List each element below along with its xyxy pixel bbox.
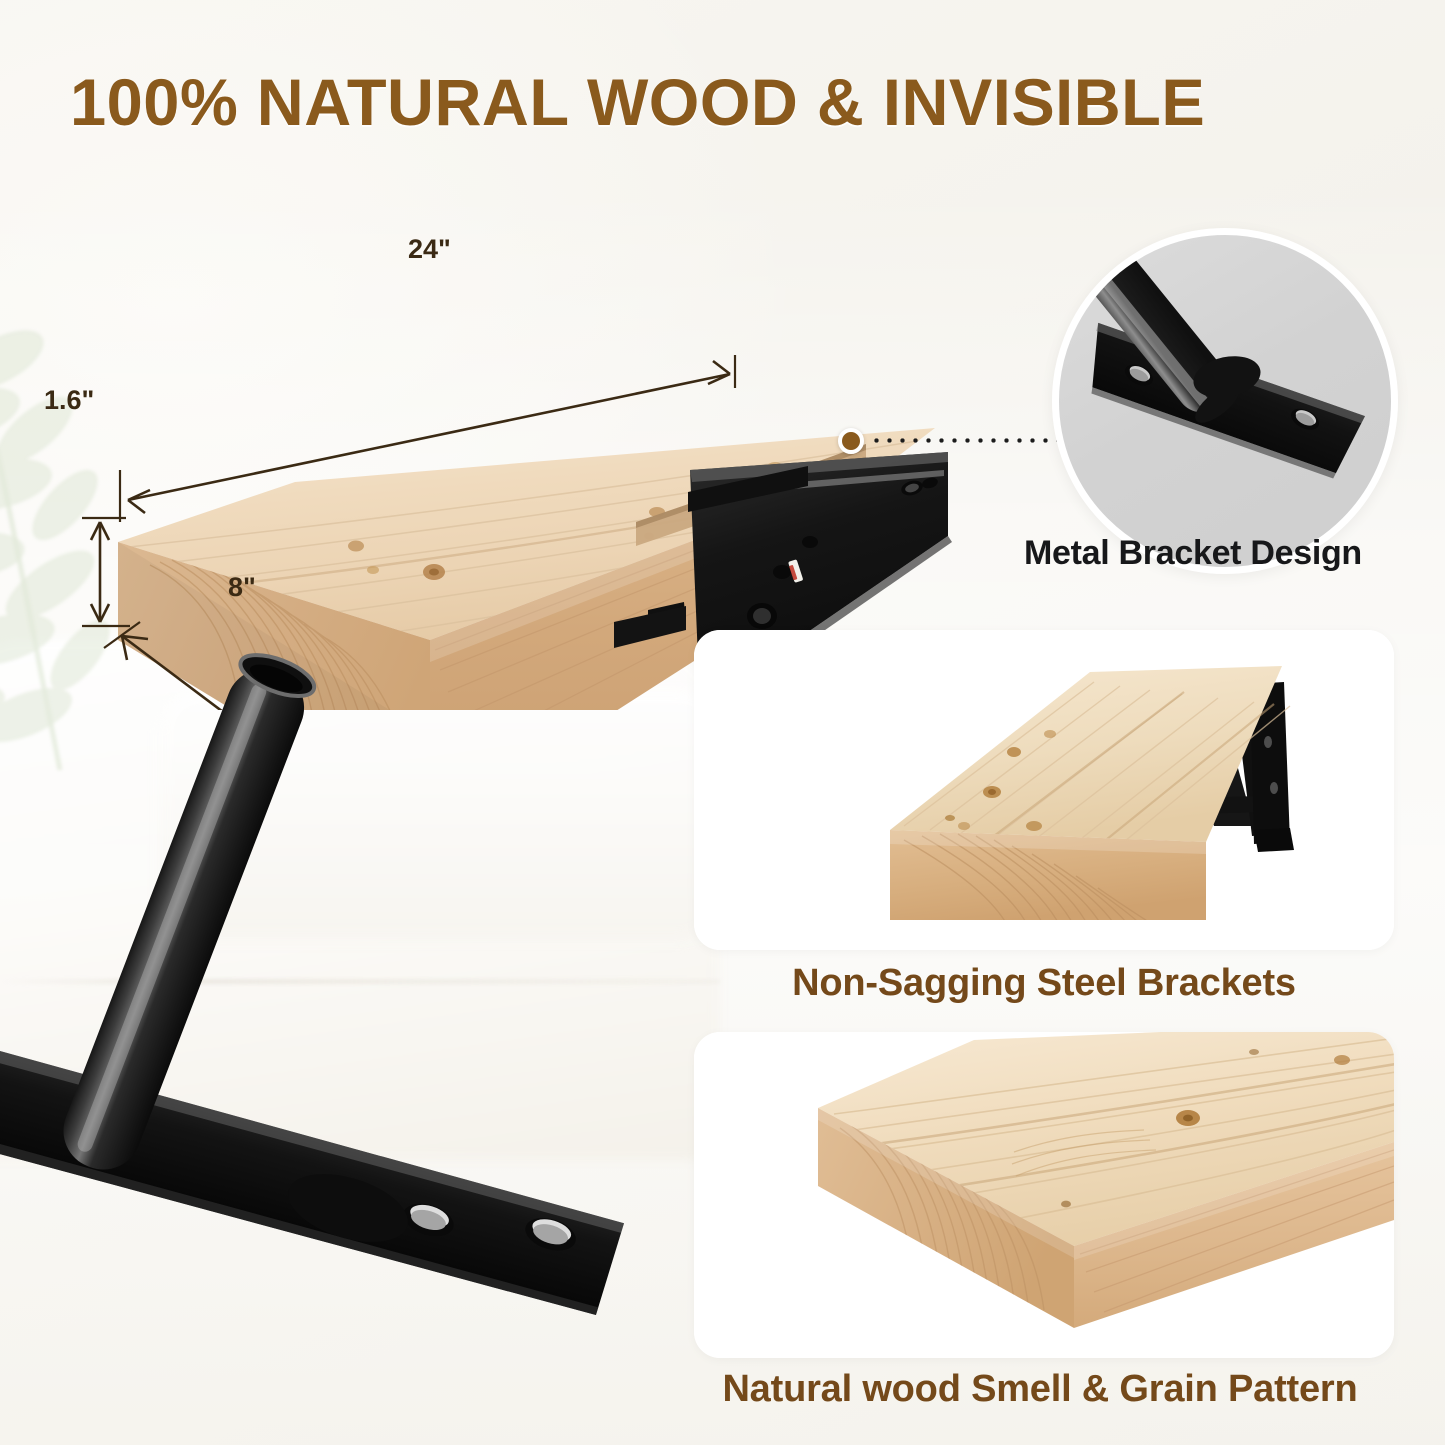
dimension-thickness-label: 1.6" — [44, 385, 94, 416]
feature-caption-non-sagging: Non-Sagging Steel Brackets — [694, 962, 1394, 1005]
callout-anchor-dot — [838, 428, 864, 454]
infographic-canvas: 24" 1.6" 8" — [0, 0, 1445, 1445]
callout-connector — [838, 422, 1068, 458]
feature-card-natural-smell — [694, 1032, 1394, 1358]
dimension-length-label: 24" — [408, 234, 451, 265]
dimension-depth-label: 8" — [228, 572, 256, 603]
wood-grain-photo — [694, 1032, 1394, 1358]
large-bracket-closeup — [0, 630, 680, 1445]
metal-bracket-callout-circle — [1052, 228, 1398, 574]
shelf-with-steel-bracket-photo — [694, 630, 1394, 950]
feature-caption-natural-smell: Natural wood Smell & Grain Pattern — [690, 1368, 1390, 1411]
metal-bracket-caption: Metal Bracket Design — [1024, 534, 1394, 573]
feature-card-non-sagging — [694, 630, 1394, 950]
page-title: 100% NATURAL WOOD & INVISIBLE — [70, 68, 1370, 137]
callout-dotted-line — [870, 438, 1066, 443]
